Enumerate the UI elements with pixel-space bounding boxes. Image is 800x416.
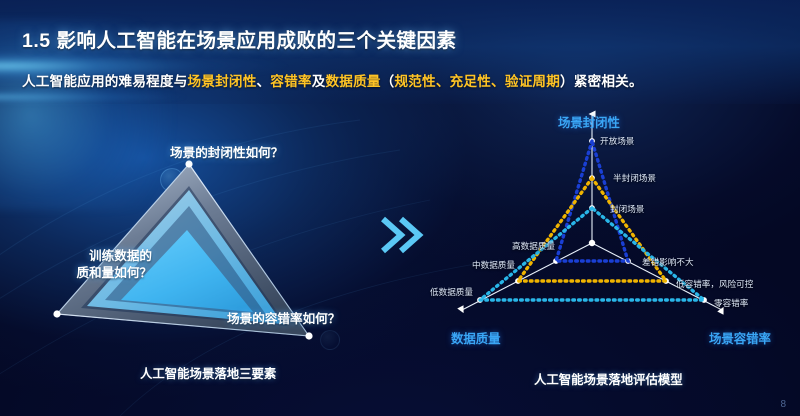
radar-tick-label-closure-semi: 半封闭场景 [613,172,656,184]
subtitle-run-5: 数据质量 [325,74,380,89]
subtitle-run-3: 容错率 [270,74,311,89]
radar-tick-label-closure-closed: 封闭场景 [610,203,644,215]
subtitle-run-2: 、 [257,74,271,89]
radar-tick-label-dq-mid: 中数据质量 [472,259,515,271]
subtitle-run-7: 规范性、充足性、验证周期 [394,74,560,89]
page-number: 8 [780,399,786,410]
subtitle-run-0: 人工智能应用的难易程度与 [22,74,188,89]
left-triangle-label-right: 场景的容错率如何？ [227,311,340,328]
left-triangle-label-left: 训练数据的 质和量如何？ [52,248,152,282]
radar-tick-label-ft-zero: 零容错率 [714,297,748,309]
subtitle-run-4: 及 [312,74,326,89]
page-title: 1.5 影响人工智能在场景应用成败的三个关键因素 [22,24,457,53]
radar-tick-label-dq-high: 高数据质量 [512,240,555,252]
radar-tick-label-ft-low: 低容错率，风险可控 [676,278,753,290]
triangle-vertex-dot-left [53,310,60,317]
right-figure-caption: 人工智能场景落地评估模型 [534,370,683,388]
slide-canvas: 1.5 影响人工智能在场景应用成败的三个关键因素 人工智能应用的难易程度与场景封… [0,0,800,416]
left-figure-caption: 人工智能场景落地三要素 [140,364,276,382]
subtitle-run-6: （ [381,74,395,89]
left-triangle-label-left-line2: 质和量如何？ [52,265,152,282]
page-subtitle: 人工智能应用的难易程度与场景封闭性、容错率及数据质量（规范性、充足性、验证周期）… [22,70,643,90]
radar-vertex-label-data-quality: 数据质量 [451,329,501,347]
radar-vertex-label-closure: 场景封闭性 [558,113,620,131]
radar-tick-label-dq-low: 低数据质量 [430,286,473,298]
left-triangle-label-top: 场景的封闭性如何？ [170,145,283,162]
left-triangle-label-left-line1: 训练数据的 [52,248,152,265]
radar-vertex-label-fault-tolerance: 场景容错率 [709,329,771,347]
subtitle-run-8: ）紧密相关。 [560,74,643,89]
triangle-vertex-dot-right [305,332,312,339]
subtitle-run-1: 场景封闭性 [188,74,257,89]
radar-tick-label-closure-open: 开放场景 [600,135,634,147]
radar-tick-label-ft-minor: 差错影响不大 [642,256,694,268]
radar-hub-dot [589,240,595,246]
